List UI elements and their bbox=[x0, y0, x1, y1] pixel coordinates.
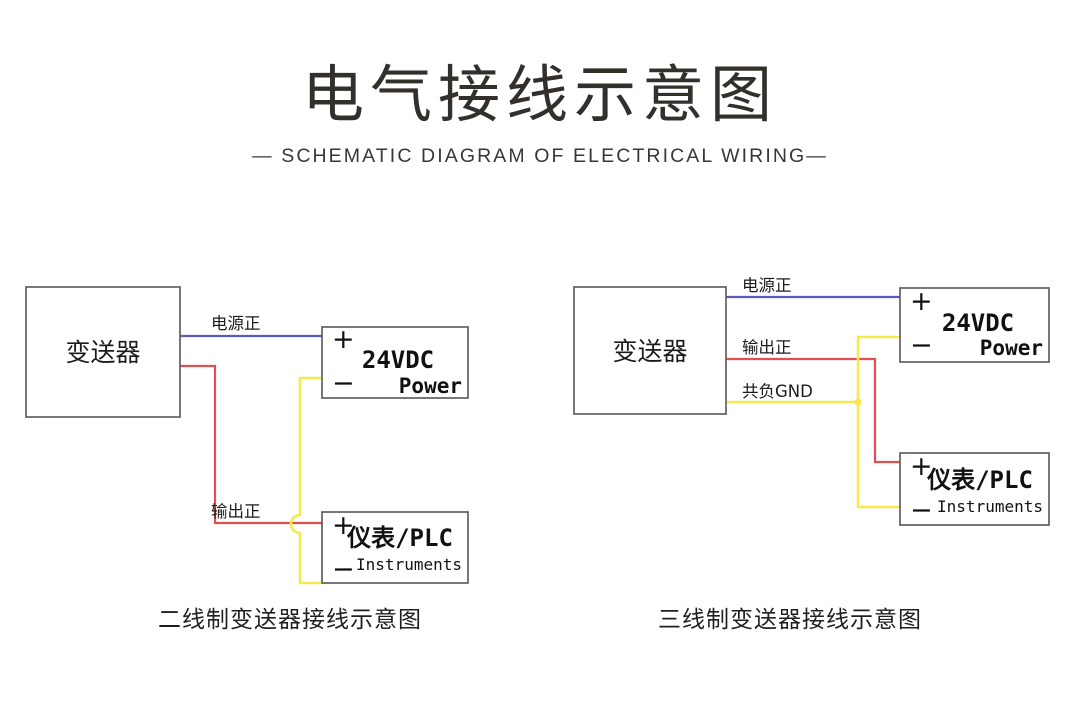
instrument-minus-terminal-left: − bbox=[332, 554, 355, 585]
power-supply-subtitle-left: Power bbox=[399, 374, 462, 398]
block-transmitter-right: 变送器 bbox=[574, 287, 726, 414]
caption-three-wire: 三线制变送器接线示意图 bbox=[540, 600, 1040, 634]
diagram-captions: 二线制变送器接线示意图 三线制变送器接线示意图 bbox=[0, 600, 1080, 650]
block-instrument-left: + − 仪表/PLC Instruments bbox=[322, 510, 468, 585]
wire-label-output-positive-right: 输出正 bbox=[742, 338, 792, 357]
wire-label-common-ground-right: 共负GND bbox=[742, 382, 813, 401]
wire-label-power-positive-left: 电源正 bbox=[211, 314, 261, 333]
transmitter-label-right: 变送器 bbox=[612, 337, 687, 366]
diagram-three-wire: 变送器 + − 24VDC Power + − 仪表/PLC Instrumen… bbox=[574, 276, 1049, 526]
page-root: 电气接线示意图 — SCHEMATIC DIAGRAM OF ELECTRICA… bbox=[0, 0, 1080, 721]
instrument-minus-terminal-right: − bbox=[910, 495, 933, 526]
instrument-subtitle-left: Instruments bbox=[356, 555, 462, 574]
wire-junction-dot-right bbox=[854, 398, 861, 405]
wire-common-ground-to-instrument-right bbox=[858, 402, 900, 507]
block-power-supply-left: + − 24VDC Power bbox=[322, 324, 468, 399]
wiring-diagram-stage: 变送器 + − 24VDC Power + − 仪表/PLC Instrumen… bbox=[0, 250, 1080, 650]
diagram-two-wire: 变送器 + − 24VDC Power + − 仪表/PLC Instrumen… bbox=[26, 287, 468, 585]
power-supply-title-right: 24VDC bbox=[942, 309, 1014, 337]
wire-label-output-positive-left: 输出正 bbox=[211, 502, 261, 521]
instrument-title-right: 仪表/PLC bbox=[926, 466, 1033, 494]
instrument-title-left: 仪表/PLC bbox=[346, 524, 453, 552]
power-supply-subtitle-right: Power bbox=[980, 336, 1043, 360]
page-subtitle: — SCHEMATIC DIAGRAM OF ELECTRICAL WIRING… bbox=[0, 129, 1080, 168]
wire-output-positive-right bbox=[726, 359, 900, 462]
power-supply-plus-terminal-left: + bbox=[332, 324, 355, 355]
transmitter-label-left: 变送器 bbox=[65, 338, 140, 367]
wire-common-ground-to-power-right bbox=[858, 337, 900, 402]
power-supply-minus-terminal-left: − bbox=[332, 368, 355, 399]
block-transmitter-left: 变送器 bbox=[26, 287, 180, 417]
caption-two-wire: 二线制变送器接线示意图 bbox=[40, 600, 540, 634]
page-title: 电气接线示意图 bbox=[0, 0, 1080, 129]
header: 电气接线示意图 — SCHEMATIC DIAGRAM OF ELECTRICA… bbox=[0, 0, 1080, 168]
block-power-supply-right: + − 24VDC Power bbox=[900, 286, 1049, 362]
wiring-schematic-svg: 变送器 + − 24VDC Power + − 仪表/PLC Instrumen… bbox=[0, 250, 1080, 650]
power-supply-minus-terminal-right: − bbox=[910, 330, 933, 361]
block-instrument-right: + − 仪表/PLC Instruments bbox=[900, 451, 1049, 526]
wire-loop-return-left bbox=[291, 378, 322, 583]
power-supply-title-left: 24VDC bbox=[362, 346, 434, 374]
wire-label-power-positive-right: 电源正 bbox=[742, 276, 792, 295]
power-supply-plus-terminal-right: + bbox=[910, 286, 933, 317]
instrument-subtitle-right: Instruments bbox=[937, 497, 1043, 516]
